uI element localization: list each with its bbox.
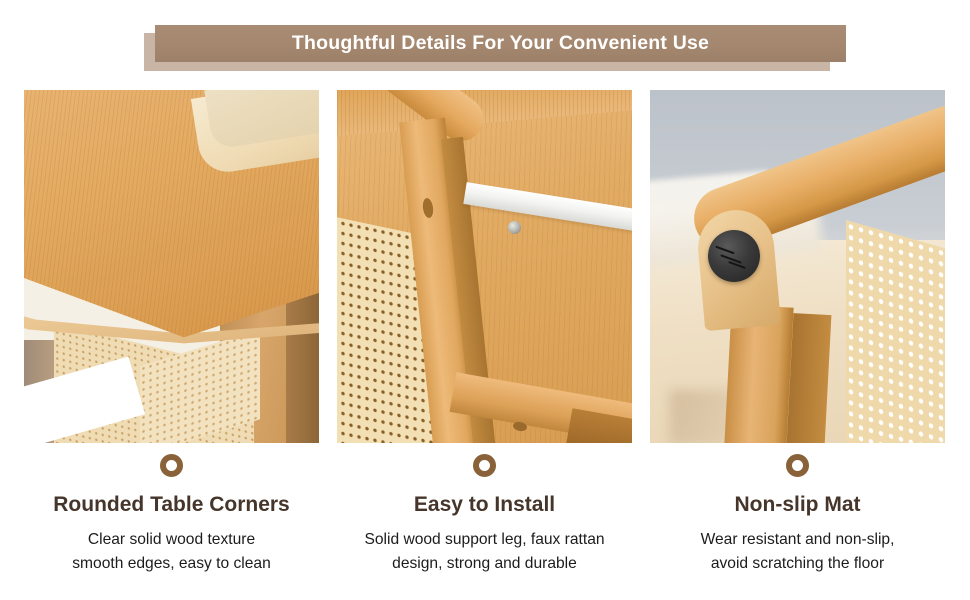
feature-description-line: smooth edges, easy to clean <box>72 552 271 576</box>
bracket-screw <box>508 221 521 234</box>
feature-description-line: Solid wood support leg, faux rattan <box>364 528 604 552</box>
ring-icon <box>786 454 809 477</box>
feature-description: Wear resistant and non-slip, avoid scrat… <box>701 528 895 576</box>
feature-caption-easy-to-install: Easy to Install Solid wood support leg, … <box>337 450 632 590</box>
feature-description-line: design, strong and durable <box>364 552 604 576</box>
feature-description-line: avoid scratching the floor <box>701 552 895 576</box>
page-title: Thoughtful Details For Your Convenient U… <box>292 34 709 54</box>
non-slip-rubber-pad <box>708 230 760 282</box>
feature-description: Solid wood support leg, faux rattan desi… <box>364 528 604 576</box>
feature-title: Easy to Install <box>414 494 555 515</box>
rattan-mesh-panel <box>846 220 945 443</box>
feature-title: Non-slip Mat <box>735 494 861 515</box>
ring-icon <box>160 454 183 477</box>
feature-image-row <box>24 90 946 443</box>
feature-caption-row: Rounded Table Corners Clear solid wood t… <box>24 450 946 590</box>
feature-description-line: Clear solid wood texture <box>72 528 271 552</box>
support-leg-shadow-side <box>787 313 832 443</box>
feature-image-easy-to-install <box>337 90 632 443</box>
feature-description: Clear solid wood texture smooth edges, e… <box>72 528 271 576</box>
ring-icon <box>473 454 496 477</box>
feature-caption-rounded-table-corners: Rounded Table Corners Clear solid wood t… <box>24 450 319 590</box>
feature-caption-non-slip-mat: Non-slip Mat Wear resistant and non-slip… <box>650 450 945 590</box>
feature-description-line: Wear resistant and non-slip, <box>701 528 895 552</box>
banner-bar: Thoughtful Details For Your Convenient U… <box>155 25 846 62</box>
feature-title: Rounded Table Corners <box>53 494 289 515</box>
header-banner: Thoughtful Details For Your Convenient U… <box>0 0 970 90</box>
feature-image-rounded-table-corners <box>24 90 319 443</box>
feature-image-non-slip-mat <box>650 90 945 443</box>
